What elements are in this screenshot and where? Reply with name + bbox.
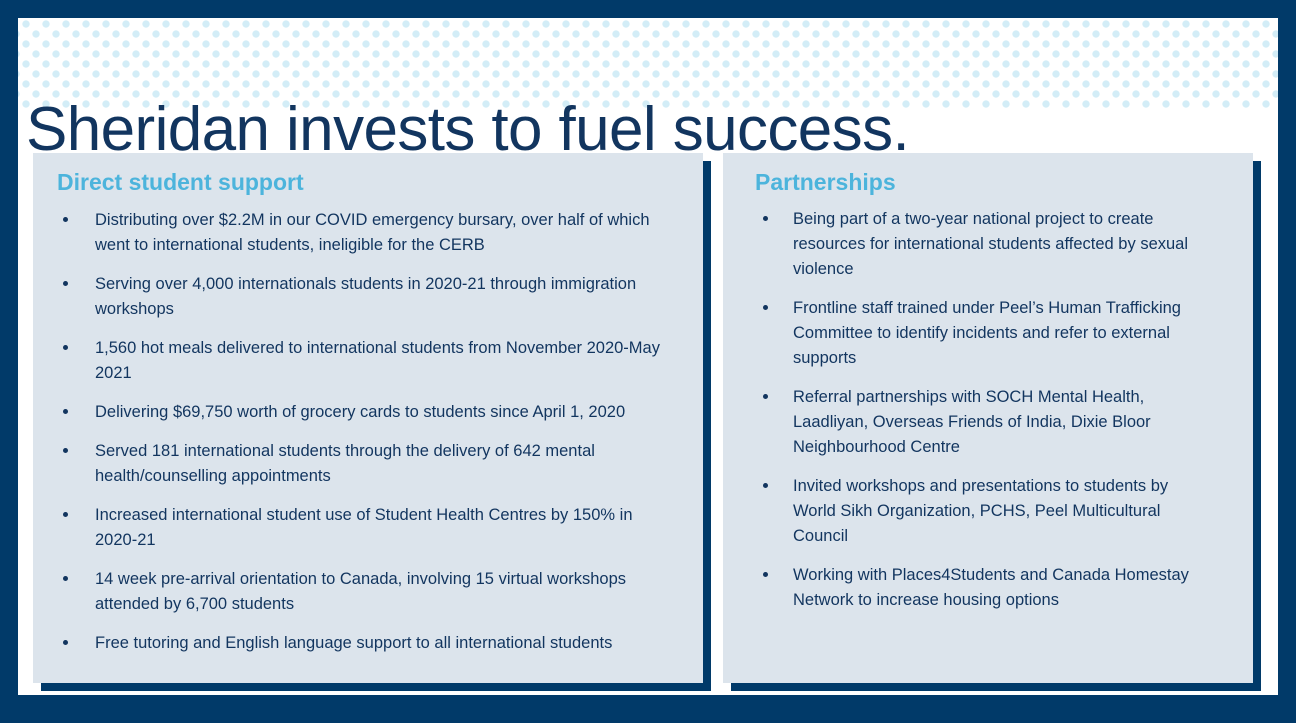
list-item-text: 1,560 hot meals delivered to internation… <box>95 339 660 382</box>
slide-border-right <box>1278 0 1296 723</box>
list-item: Free tutoring and English language suppo… <box>51 631 675 656</box>
list-item-text: Served 181 international students throug… <box>95 442 595 485</box>
panel-heading-partnerships: Partnerships <box>755 169 1235 196</box>
list-item-text: 14 week pre-arrival orientation to Canad… <box>95 570 626 613</box>
slide: Sheridan invests to fuel success. Direct… <box>0 0 1296 723</box>
direct-student-support-panel: Direct student support Distributing over… <box>33 153 703 683</box>
list-item: Delivering $69,750 worth of grocery card… <box>51 400 675 425</box>
bullet-icon <box>763 216 768 221</box>
bullet-icon <box>763 394 768 399</box>
list-item-text: Distributing over $2.2M in our COVID eme… <box>95 211 650 254</box>
bullet-icon <box>763 483 768 488</box>
bullet-icon <box>763 305 768 310</box>
list-item-text: Serving over 4,000 internationals studen… <box>95 275 636 318</box>
list-item-text: Free tutoring and English language suppo… <box>95 634 612 652</box>
list-item: Referral partnerships with SOCH Mental H… <box>741 385 1205 460</box>
list-item: Served 181 international students throug… <box>51 439 675 489</box>
list-item-text: Delivering $69,750 worth of grocery card… <box>95 403 625 421</box>
bullet-icon <box>763 572 768 577</box>
list-item-text: Being part of a two-year national projec… <box>793 210 1188 278</box>
partnerships-panel: Partnerships Being part of a two-year na… <box>723 153 1253 683</box>
list-item: 14 week pre-arrival orientation to Canad… <box>51 567 675 617</box>
bullet-icon <box>63 640 68 645</box>
list-item-text: Increased international student use of S… <box>95 506 633 549</box>
bullet-icon <box>63 576 68 581</box>
bullet-icon <box>63 345 68 350</box>
slide-border-bottom <box>0 695 1296 723</box>
partnerships-bullet-list: Being part of a two-year national projec… <box>741 207 1235 613</box>
list-item: Working with Places4Students and Canada … <box>741 563 1205 613</box>
list-item-text: Referral partnerships with SOCH Mental H… <box>793 388 1151 456</box>
bullet-icon <box>63 281 68 286</box>
list-item: Being part of a two-year national projec… <box>741 207 1205 282</box>
list-item: Invited workshops and presentations to s… <box>741 474 1205 549</box>
slide-title: Sheridan invests to fuel success. <box>26 99 909 161</box>
slide-border-top <box>0 0 1296 18</box>
list-item-text: Working with Places4Students and Canada … <box>793 566 1189 609</box>
list-item-text: Frontline staff trained under Peel’s Hum… <box>793 299 1181 367</box>
bullet-icon <box>63 409 68 414</box>
slide-border-left <box>0 0 18 723</box>
direct-student-support-bullet-list: Distributing over $2.2M in our COVID eme… <box>51 208 685 656</box>
panel-heading-direct-student-support: Direct student support <box>57 169 685 196</box>
list-item-text: Invited workshops and presentations to s… <box>793 477 1168 545</box>
bullet-icon <box>63 217 68 222</box>
bullet-icon <box>63 512 68 517</box>
list-item: Serving over 4,000 internationals studen… <box>51 272 675 322</box>
list-item: 1,560 hot meals delivered to internation… <box>51 336 675 386</box>
list-item: Increased international student use of S… <box>51 503 675 553</box>
bullet-icon <box>63 448 68 453</box>
list-item: Frontline staff trained under Peel’s Hum… <box>741 296 1205 371</box>
list-item: Distributing over $2.2M in our COVID eme… <box>51 208 675 258</box>
